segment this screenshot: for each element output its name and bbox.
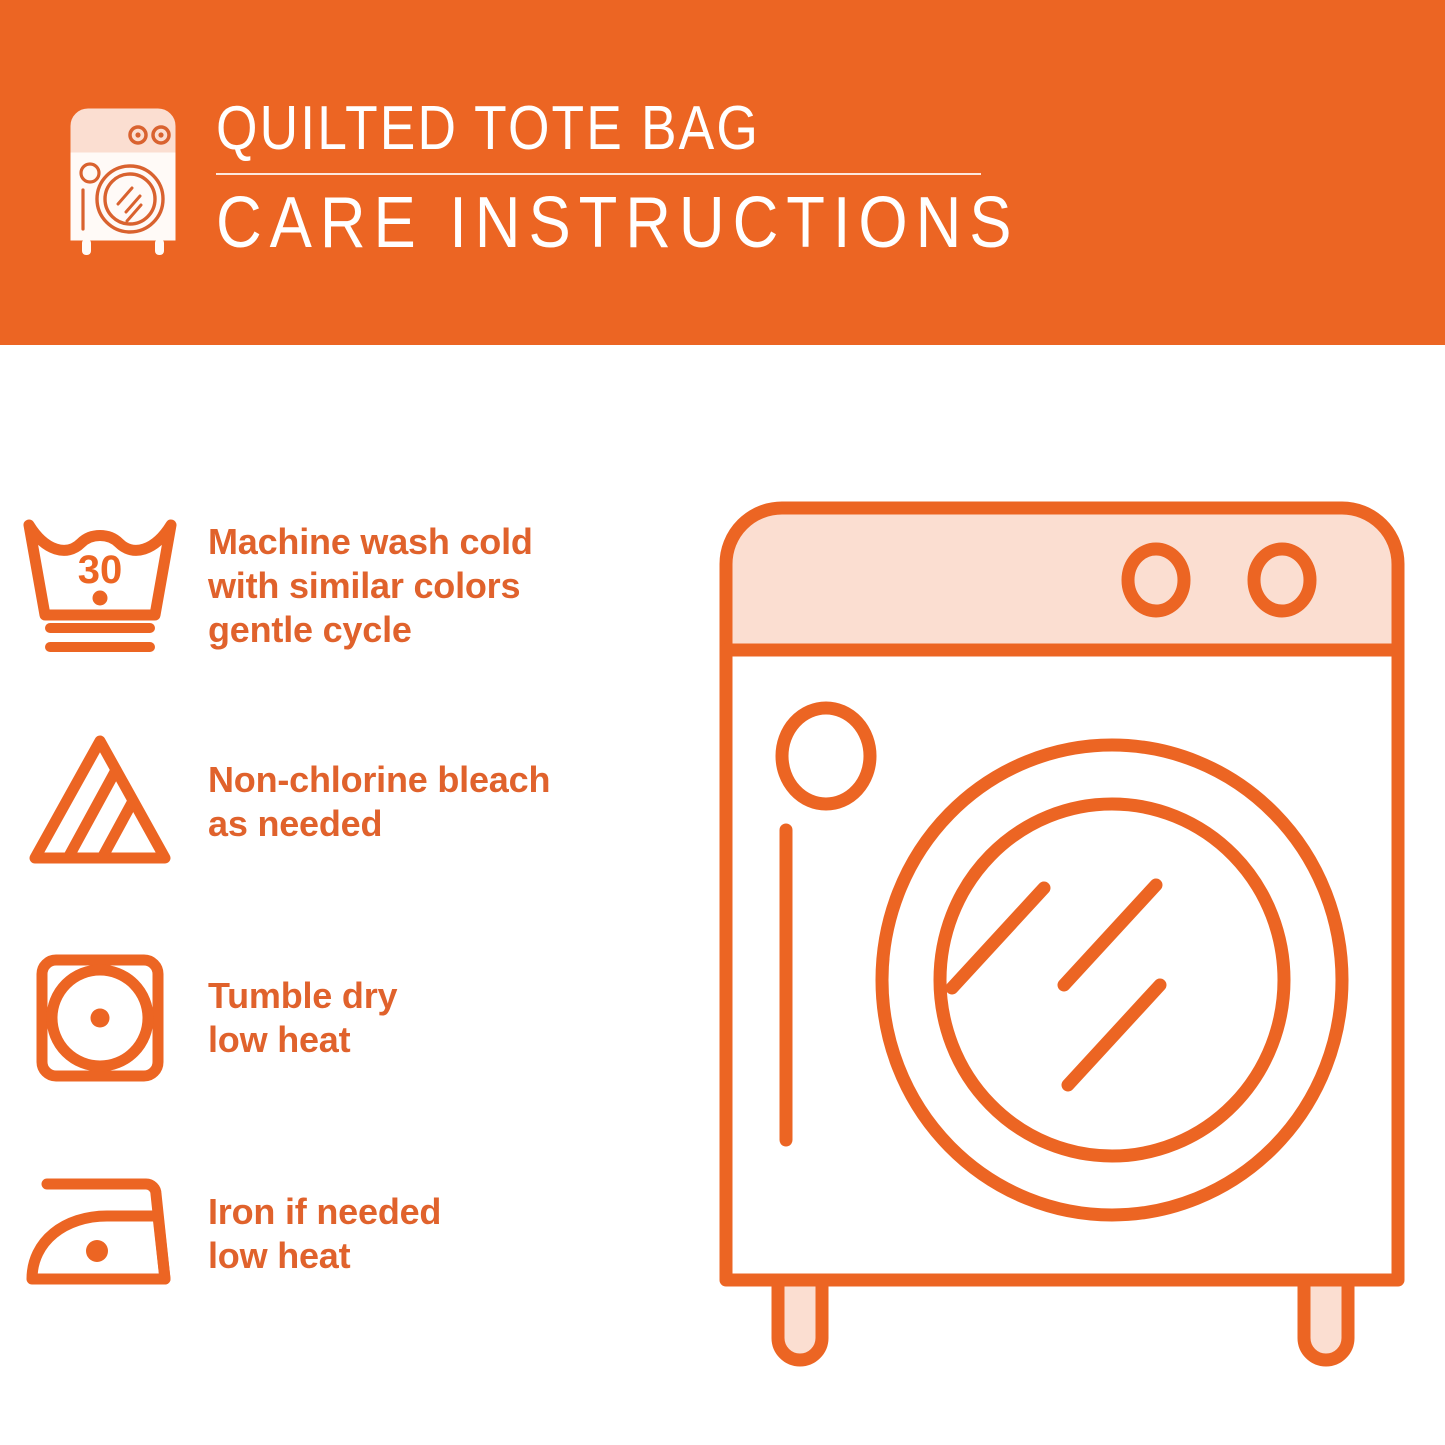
header-band: QUILTED TOTE BAG CARE INSTRUCTIONS xyxy=(0,0,1445,345)
title-divider xyxy=(216,173,981,175)
machine-wash-icon: 30 xyxy=(15,511,185,661)
care-instruction-list: 30 Machine wash cold with similar colors… xyxy=(0,478,700,1342)
care-symbol-slot: 30 xyxy=(0,511,200,661)
page-subtitle: CARE INSTRUCTIONS xyxy=(216,187,1019,259)
wash-temperature-label: 30 xyxy=(78,548,123,592)
care-row: Iron if needed low heat xyxy=(0,1126,700,1342)
care-label: Machine wash cold with similar colors ge… xyxy=(208,520,533,652)
care-symbol-slot xyxy=(0,727,200,877)
care-label: Non-chlorine bleach as needed xyxy=(208,758,550,846)
washing-machine-graphic xyxy=(712,480,1412,1380)
care-symbol-slot xyxy=(0,943,200,1093)
care-symbol-slot xyxy=(0,1159,200,1309)
bleach-triangle-icon xyxy=(15,727,185,877)
washing-machine-illustration xyxy=(712,480,1412,1380)
leg-left xyxy=(778,1280,822,1360)
care-label: Tumble dry low heat xyxy=(208,974,397,1062)
tumble-dry-icon xyxy=(15,943,185,1093)
washing-machine-icon xyxy=(68,104,178,259)
care-instructions-page: QUILTED TOTE BAG CARE INSTRUCTIONS 30 xyxy=(0,0,1445,1445)
care-label: Iron if needed low heat xyxy=(208,1190,441,1278)
care-row: Non-chlorine bleach as needed xyxy=(0,694,700,910)
header-content: QUILTED TOTE BAG CARE INSTRUCTIONS xyxy=(68,98,1129,259)
header-title-group: QUILTED TOTE BAG CARE INSTRUCTIONS xyxy=(216,98,1129,259)
care-row: Tumble dry low heat xyxy=(0,910,700,1126)
iron-icon xyxy=(15,1159,185,1309)
leg-right xyxy=(1304,1280,1348,1360)
care-row: 30 Machine wash cold with similar colors… xyxy=(0,478,700,694)
control-panel xyxy=(726,508,1398,650)
page-title: QUILTED TOTE BAG xyxy=(216,98,1001,160)
